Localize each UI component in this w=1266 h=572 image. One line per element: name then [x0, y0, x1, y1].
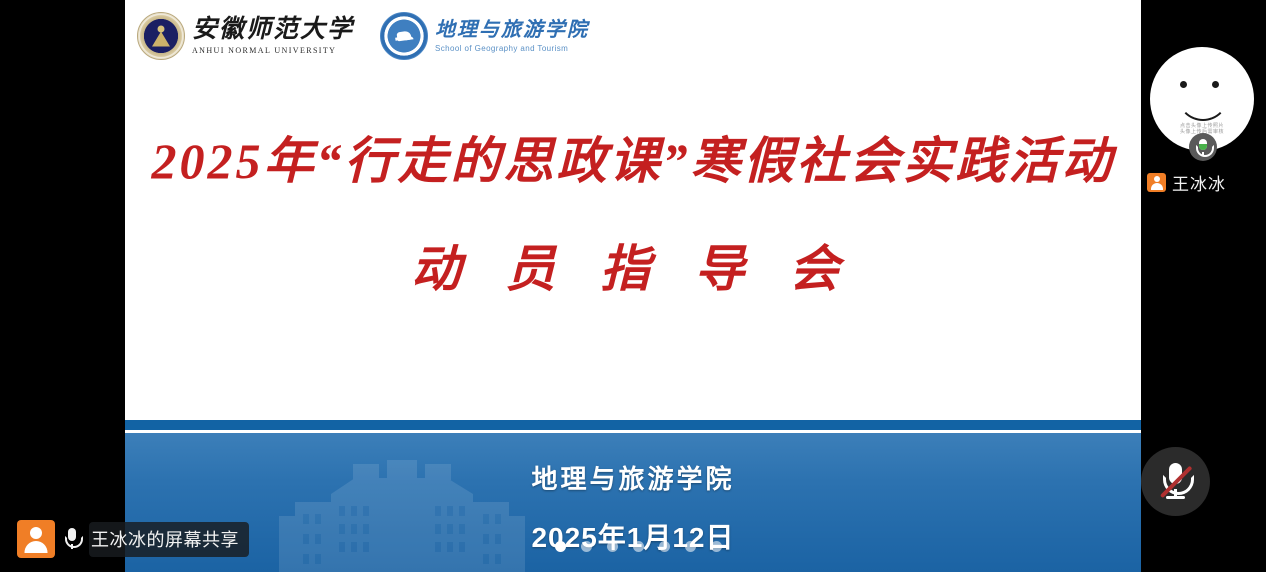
logo-anhui-normal-university: 安徽师范大学 ANHUI NORMAL UNIVERSITY: [137, 12, 354, 60]
banner-dot: [607, 541, 618, 552]
banner-dot: [633, 541, 644, 552]
slide-logos: 安徽师范大学 ANHUI NORMAL UNIVERSITY 地理与旅游学院 S…: [137, 12, 589, 60]
logo-sgt-cn-name: 地理与旅游学院: [435, 20, 589, 40]
banner-organization: 地理与旅游学院: [125, 459, 1141, 496]
smiley-eye-left-icon: [1180, 81, 1187, 88]
banner-top-rule: [125, 420, 1141, 430]
logo-sgt-text: 地理与旅游学院 School of Geography and Tourism: [435, 20, 589, 53]
logo-sgt-en-name: School of Geography and Tourism: [435, 45, 589, 53]
microphone-icon: [64, 527, 80, 551]
mute-button[interactable]: [1141, 447, 1210, 516]
slide-title: 2025年“行走的思政课”寒假社会实践活动 动 员 指 导 会: [125, 130, 1141, 301]
logo-anu-cn-name: 安徽师范大学: [192, 17, 354, 42]
mic-stem: [71, 544, 73, 549]
screen-share-label: 王冰冰的屏幕共享: [89, 522, 249, 557]
logo-anu-en-name: ANHUI NORMAL UNIVERSITY: [192, 47, 354, 55]
smiley-eye-right-icon: [1212, 81, 1219, 88]
banner-dot: [581, 541, 592, 552]
mic-arc: [1196, 145, 1214, 157]
banner-dot: [555, 541, 566, 552]
microphone-muted-icon-base: [1166, 496, 1185, 499]
meeting-screen: 安徽师范大学 ANHUI NORMAL UNIVERSITY 地理与旅游学院 S…: [0, 0, 1266, 572]
person-icon: [1147, 173, 1166, 192]
participant-name: 王冰冰: [1172, 170, 1226, 195]
mic-stem: [1202, 152, 1204, 156]
school-of-geography-and-tourism-seal-icon: [380, 12, 428, 60]
logo-anu-text: 安徽师范大学 ANHUI NORMAL UNIVERSITY: [192, 17, 354, 55]
microphone-active-icon: [1189, 133, 1217, 161]
participant-name-row: 王冰冰: [1147, 170, 1226, 195]
slide-title-line-2: 动 员 指 导 会: [125, 229, 1141, 301]
anhui-normal-university-seal-icon: [137, 12, 185, 60]
participant-tile[interactable]: 点击头像上传照片 头像上传后需审核 王冰冰: [1141, 0, 1266, 215]
banner-dot: [659, 541, 670, 552]
banner-dot: [711, 541, 722, 552]
banner-dot: [685, 541, 696, 552]
smiley-mouth-icon: [1177, 91, 1229, 121]
screen-share-status-bar: 王冰冰的屏幕共享: [17, 520, 249, 558]
shared-slide: 安徽师范大学 ANHUI NORMAL UNIVERSITY 地理与旅游学院 S…: [125, 0, 1141, 572]
slide-footer-banner: 地理与旅游学院 2025年1月12日: [125, 433, 1141, 572]
banner-decorative-dots: [555, 541, 722, 552]
slide-title-line-1: 2025年“行走的思政课”寒假社会实践活动: [125, 130, 1141, 193]
person-icon: [17, 520, 55, 558]
mic-arc: [65, 536, 83, 548]
logo-school-of-geography-and-tourism: 地理与旅游学院 School of Geography and Tourism: [380, 12, 589, 60]
